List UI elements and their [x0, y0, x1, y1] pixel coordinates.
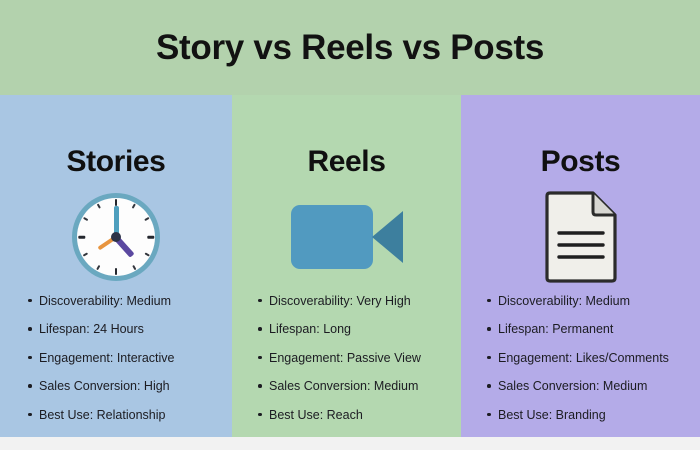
column-posts: Posts Discoverability: Medium Lifespan: … — [461, 95, 700, 437]
document-icon-svg — [543, 191, 619, 283]
clock-icon — [72, 193, 160, 281]
header-banner: Story vs Reels vs Posts — [0, 0, 700, 95]
column-reels: Reels Discoverability: Very High Lifespa… — [232, 95, 461, 437]
list-item: Discoverability: Very High — [258, 295, 421, 308]
list-item: Discoverability: Medium — [487, 295, 669, 308]
list-item: Lifespan: 24 Hours — [28, 323, 175, 336]
list-item: Sales Conversion: Medium — [487, 380, 669, 393]
document-icon — [543, 191, 619, 283]
camera-lens — [372, 211, 403, 263]
column-stories: Stories Discoverabili — [0, 95, 232, 437]
list-item: Best Use: Reach — [258, 409, 421, 422]
comparison-columns: Stories Discoverabili — [0, 95, 700, 437]
clock-center-hub — [111, 232, 121, 242]
feature-list-posts: Discoverability: Medium Lifespan: Perman… — [487, 295, 669, 438]
list-item: Engagement: Passive View — [258, 352, 421, 365]
list-item: Lifespan: Permanent — [487, 323, 669, 336]
feature-list-stories: Discoverability: Medium Lifespan: 24 Hou… — [28, 295, 175, 438]
list-item: Best Use: Relationship — [28, 409, 175, 422]
footer-strip — [0, 437, 700, 450]
page-title: Story vs Reels vs Posts — [156, 28, 544, 68]
icon-container-stories — [72, 185, 160, 289]
list-item: Engagement: Interactive — [28, 352, 175, 365]
camera-body — [291, 205, 373, 269]
list-item: Sales Conversion: Medium — [258, 380, 421, 393]
column-title-posts: Posts — [541, 147, 621, 177]
list-item: Lifespan: Long — [258, 323, 421, 336]
video-camera-icon — [291, 205, 403, 269]
list-item: Best Use: Branding — [487, 409, 669, 422]
infographic-root: Story vs Reels vs Posts Stories — [0, 0, 700, 450]
icon-container-posts — [543, 185, 619, 289]
list-item: Sales Conversion: High — [28, 380, 175, 393]
column-title-reels: Reels — [307, 147, 385, 177]
column-title-stories: Stories — [67, 147, 166, 177]
list-item: Discoverability: Medium — [28, 295, 175, 308]
icon-container-reels — [291, 185, 403, 289]
list-item: Engagement: Likes/Comments — [487, 352, 669, 365]
feature-list-reels: Discoverability: Very High Lifespan: Lon… — [258, 295, 421, 438]
